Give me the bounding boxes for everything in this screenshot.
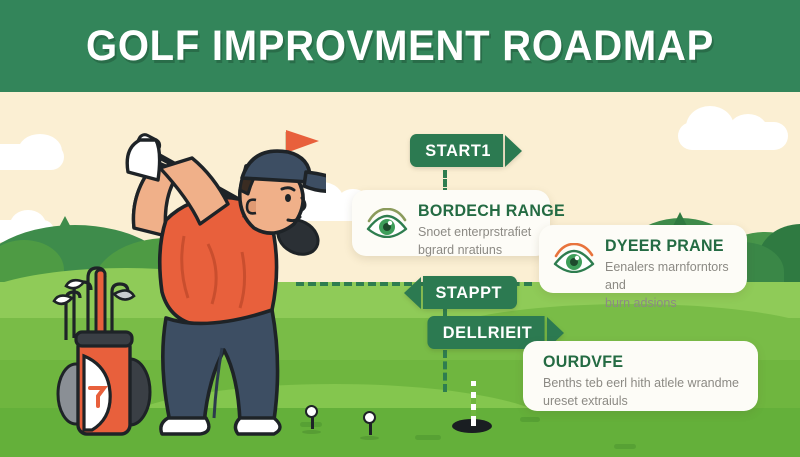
card-body-line: Snoet enterprstrafiet xyxy=(418,224,534,242)
info-card-bordech-range[interactable]: BORDECH RANGE Snoet enterprstrafiet bgra… xyxy=(352,190,550,256)
signpost-stappt[interactable]: STAPPT xyxy=(404,276,519,309)
card-title: DYEER PRANE xyxy=(605,237,727,256)
eye-icon xyxy=(366,208,408,243)
signpost-label: START1 xyxy=(410,134,504,167)
cloud-icon xyxy=(18,134,62,168)
card-text-block: OURDVFE Benths teb eerl hith atlele wran… xyxy=(543,353,742,411)
page-title: GOLF IMPROVMENT ROADMAP xyxy=(28,0,772,92)
info-card-dyeer-prane[interactable]: DYEER PRANE Eenalers marnforntors and bu… xyxy=(539,225,747,293)
card-body-line: burn adsions xyxy=(605,295,731,313)
cloud-icon xyxy=(728,114,768,148)
card-body-line: ureset extraiuls xyxy=(543,393,742,411)
ball-shadow xyxy=(302,430,321,434)
ball-shadow xyxy=(360,436,379,440)
connector-dashed-vertical xyxy=(443,350,447,392)
golfer-figure xyxy=(96,132,326,442)
golf-ball xyxy=(363,411,376,424)
signpost-label: STAPPT xyxy=(423,276,517,309)
eye-icon xyxy=(553,243,595,278)
info-card-ourdvfe[interactable]: OURDVFE Benths teb eerl hith atlele wran… xyxy=(523,341,758,411)
infographic-poster: GOLF IMPROVMENT ROADMAP xyxy=(0,0,800,457)
grass-speckle xyxy=(415,435,441,440)
card-text-block: BORDECH RANGE Snoet enterprstrafiet bgra… xyxy=(418,202,534,260)
signpost-start[interactable]: START1 xyxy=(408,134,522,167)
card-title: OURDVFE xyxy=(543,353,736,372)
card-body-line: bgrard nratiuns xyxy=(418,242,534,260)
card-body-line: Eenalers marnforntors and xyxy=(605,259,731,295)
header-banner: GOLF IMPROVMENT ROADMAP xyxy=(0,0,800,92)
card-title: BORDECH RANGE xyxy=(418,202,531,221)
signpost-arrow-left-icon xyxy=(404,277,421,309)
grass-speckle xyxy=(614,444,636,449)
card-body-line: Benths teb eerl hith atlele wrandme xyxy=(543,375,742,393)
hole-flag-pole xyxy=(468,381,478,426)
golf-ball xyxy=(305,405,318,418)
signpost-arrow-right-icon xyxy=(505,135,522,167)
grass-speckle xyxy=(520,417,540,422)
card-text-block: DYEER PRANE Eenalers marnforntors and bu… xyxy=(605,237,731,312)
cloud-icon xyxy=(686,106,734,148)
